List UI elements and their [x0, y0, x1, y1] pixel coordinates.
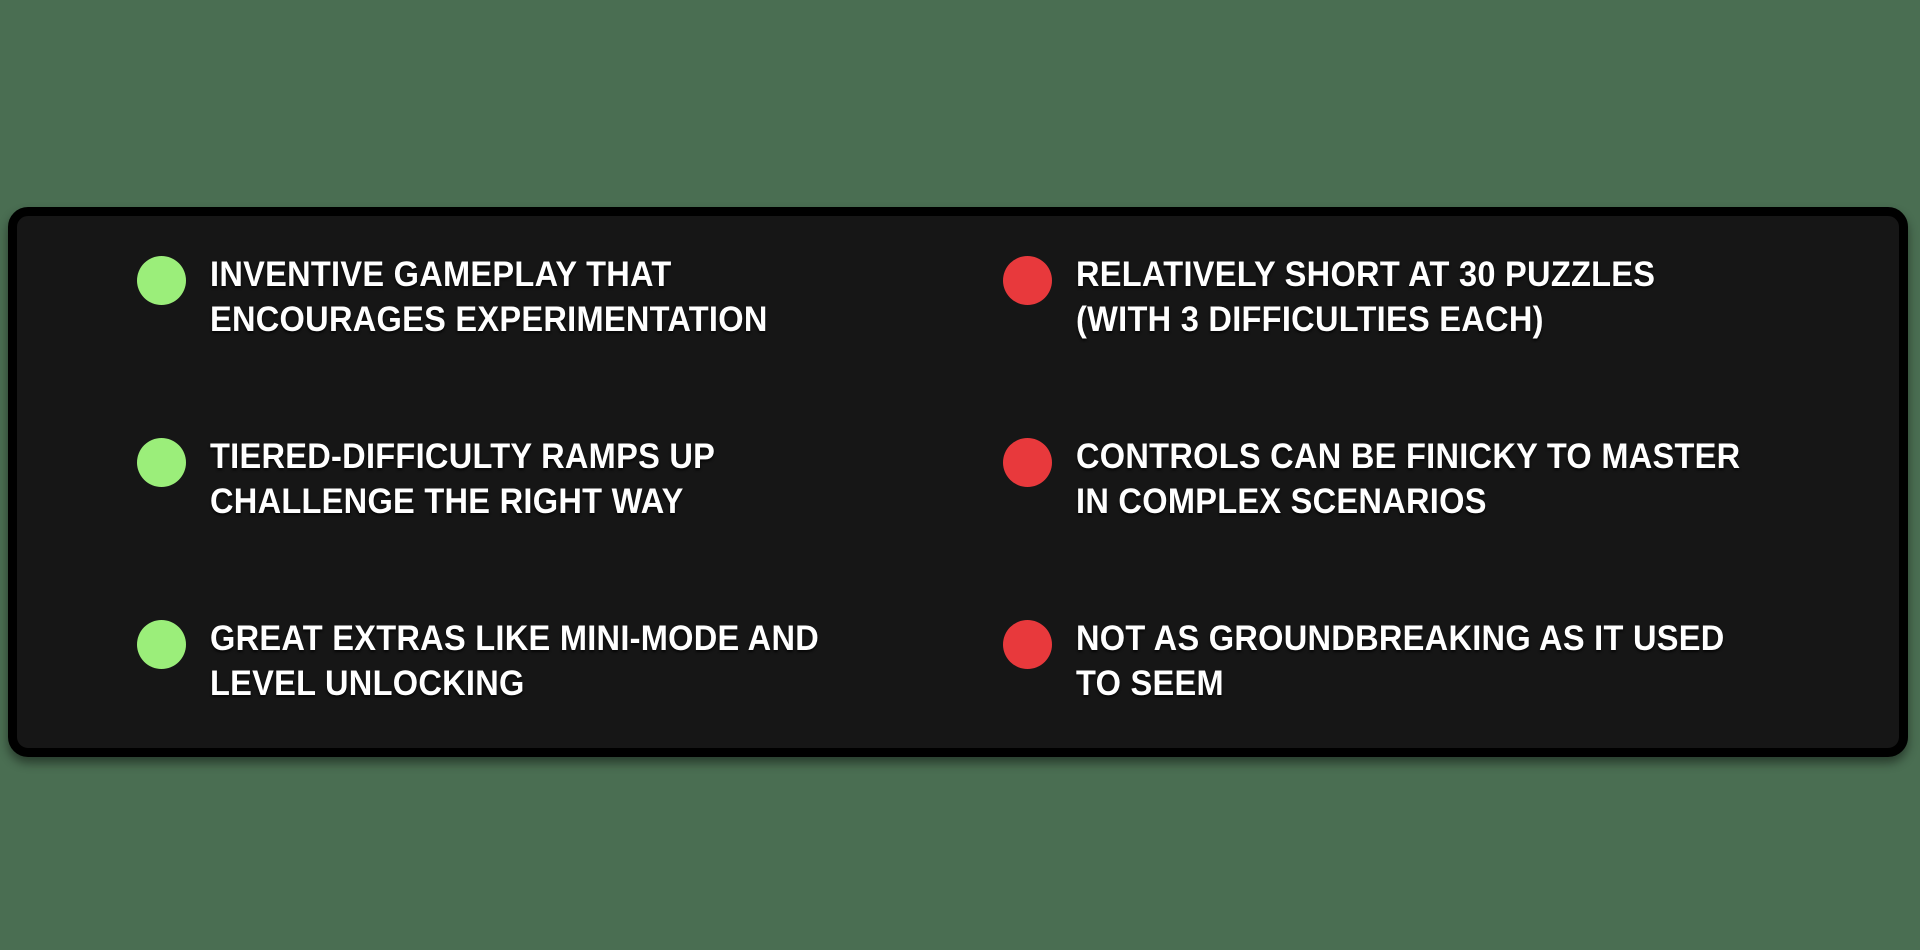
list-item-line: ENCOURAGES EXPERIMENTATION: [210, 297, 768, 342]
list-item-text: CONTROLS CAN BE FINICKY TO MASTER IN COM…: [1076, 434, 1790, 524]
list-item-text: GREAT EXTRAS LIKE MINI-MODE AND LEVEL UN…: [210, 616, 865, 706]
list-item-line: CONTROLS CAN BE FINICKY TO MASTER: [1076, 434, 1740, 479]
list-item-line: INVENTIVE GAMEPLAY THAT: [210, 252, 768, 297]
list-item: NOT AS GROUNDBREAKING AS IT USED TO SEEM: [1003, 616, 1869, 706]
list-item: TIERED-DIFFICULTY RAMPS UP CHALLENGE THE…: [137, 434, 934, 524]
pros-cons-card: INVENTIVE GAMEPLAY THAT ENCOURAGES EXPER…: [8, 207, 1908, 757]
list-item-text: TIERED-DIFFICULTY RAMPS UP CHALLENGE THE…: [210, 434, 753, 524]
list-item-line: TO SEEM: [1076, 661, 1725, 706]
list-item: CONTROLS CAN BE FINICKY TO MASTER IN COM…: [1003, 434, 1869, 524]
list-item-line: RELATIVELY SHORT AT 30 PUZZLES: [1076, 252, 1655, 297]
list-item-line: GREAT EXTRAS LIKE MINI-MODE AND: [210, 616, 819, 661]
list-item: GREAT EXTRAS LIKE MINI-MODE AND LEVEL UN…: [137, 616, 934, 706]
list-item-line: LEVEL UNLOCKING: [210, 661, 819, 706]
list-item-line: NOT AS GROUNDBREAKING AS IT USED: [1076, 616, 1725, 661]
list-item-line: (WITH 3 DIFFICULTIES EACH): [1076, 297, 1655, 342]
red-circle-icon: [1003, 256, 1052, 305]
cons-column: RELATIVELY SHORT AT 30 PUZZLES (WITH 3 D…: [958, 252, 1899, 712]
green-circle-icon: [137, 256, 186, 305]
page-canvas: INVENTIVE GAMEPLAY THAT ENCOURAGES EXPER…: [0, 0, 1920, 950]
list-item-line: CHALLENGE THE RIGHT WAY: [210, 479, 715, 524]
green-circle-icon: [137, 438, 186, 487]
list-item-line: IN COMPLEX SCENARIOS: [1076, 479, 1740, 524]
list-item: INVENTIVE GAMEPLAY THAT ENCOURAGES EXPER…: [137, 252, 934, 342]
list-item-text: INVENTIVE GAMEPLAY THAT ENCOURAGES EXPER…: [210, 252, 810, 342]
green-circle-icon: [137, 620, 186, 669]
card-columns: INVENTIVE GAMEPLAY THAT ENCOURAGES EXPER…: [17, 216, 1899, 748]
list-item-line: TIERED-DIFFICULTY RAMPS UP: [210, 434, 715, 479]
list-item: RELATIVELY SHORT AT 30 PUZZLES (WITH 3 D…: [1003, 252, 1869, 342]
red-circle-icon: [1003, 438, 1052, 487]
list-item-text: NOT AS GROUNDBREAKING AS IT USED TO SEEM: [1076, 616, 1773, 706]
pros-column: INVENTIVE GAMEPLAY THAT ENCOURAGES EXPER…: [17, 252, 958, 712]
red-circle-icon: [1003, 620, 1052, 669]
list-item-text: RELATIVELY SHORT AT 30 PUZZLES (WITH 3 D…: [1076, 252, 1699, 342]
